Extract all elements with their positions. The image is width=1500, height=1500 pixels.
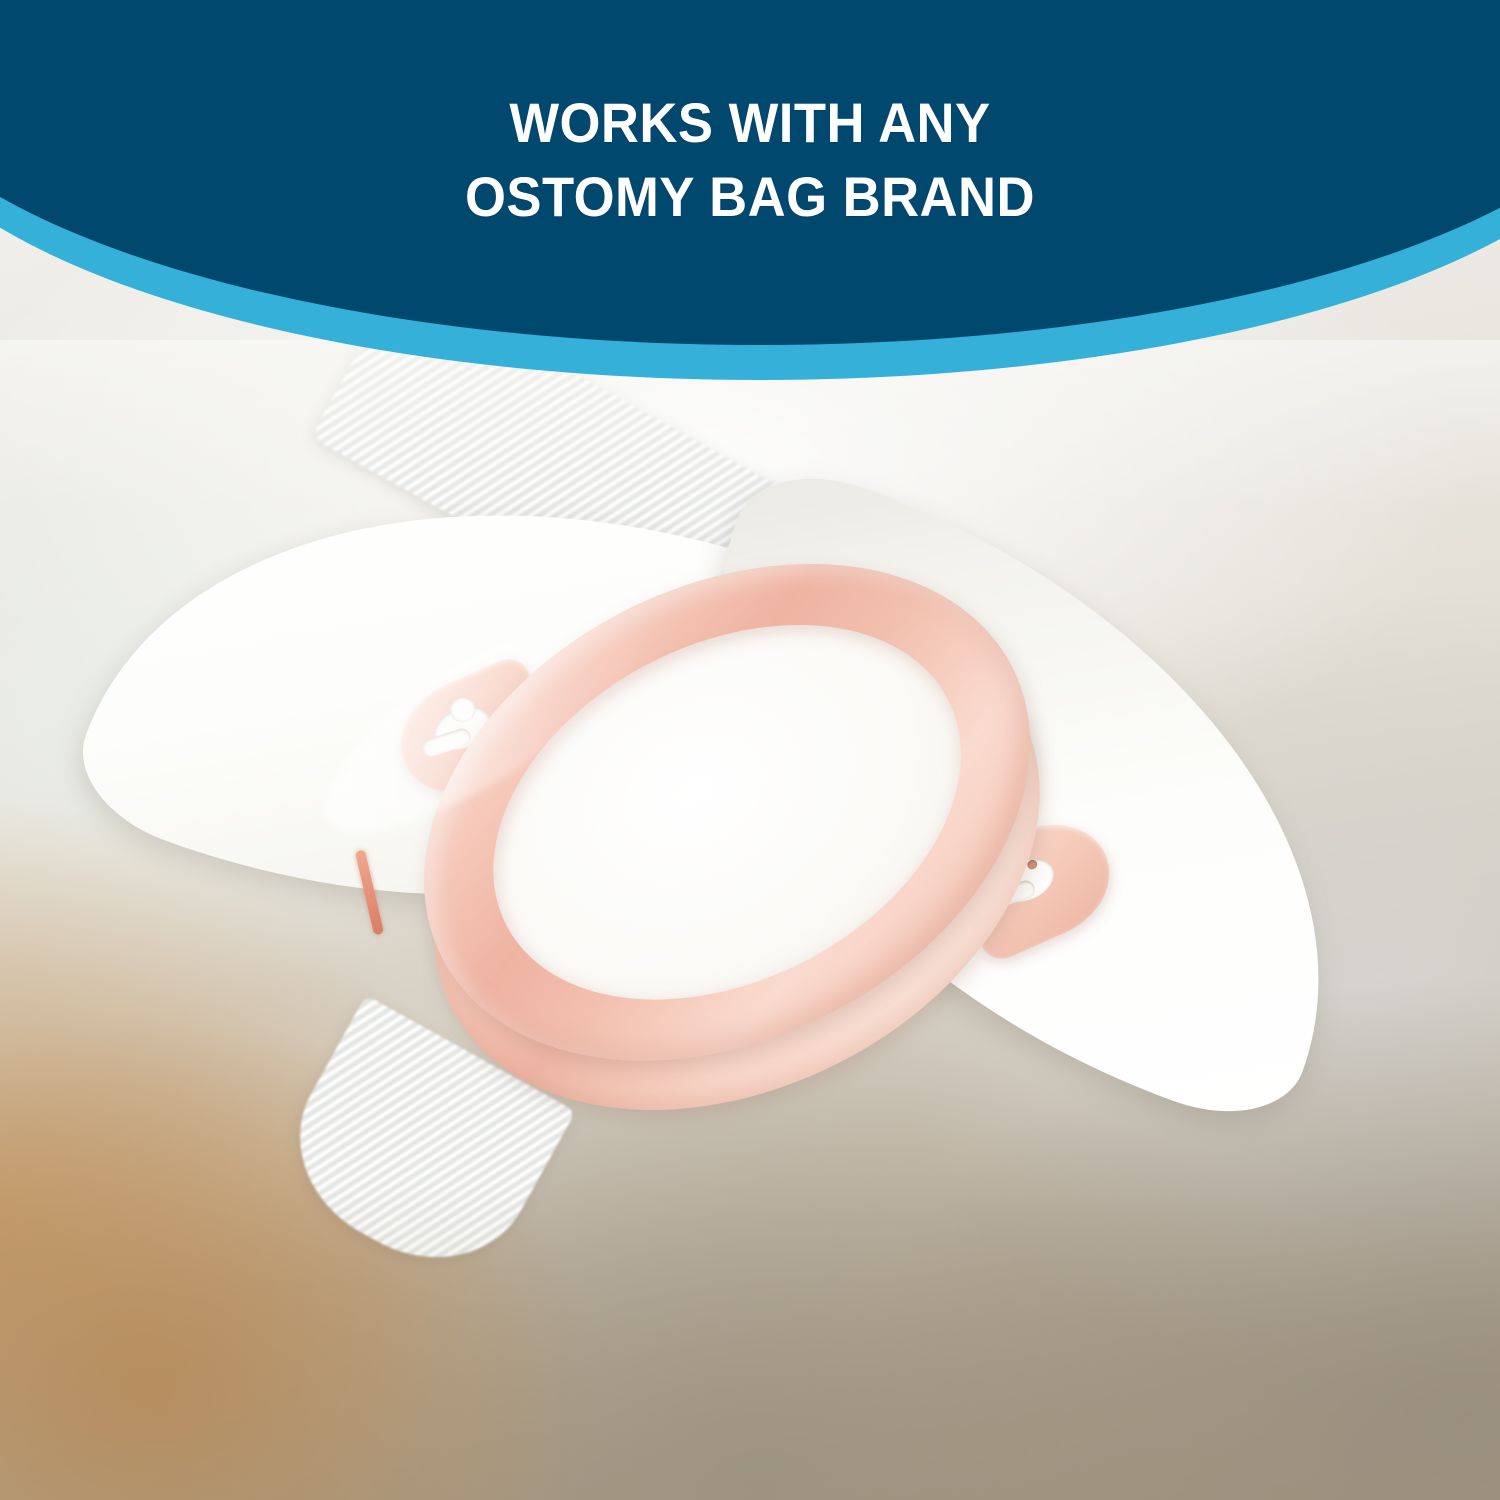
depth-of-field-bottom <box>0 1180 1500 1500</box>
banner-headline-line2: OSTOMY BAG BRAND <box>45 160 1455 234</box>
banner-headline: WORKS WITH ANY OSTOMY BAG BRAND <box>45 86 1455 234</box>
banner-headline-line1: WORKS WITH ANY <box>509 91 990 154</box>
ring-seam-mark <box>355 849 384 935</box>
product-banner-image: WORKS WITH ANY OSTOMY BAG BRAND <box>0 0 1500 1500</box>
